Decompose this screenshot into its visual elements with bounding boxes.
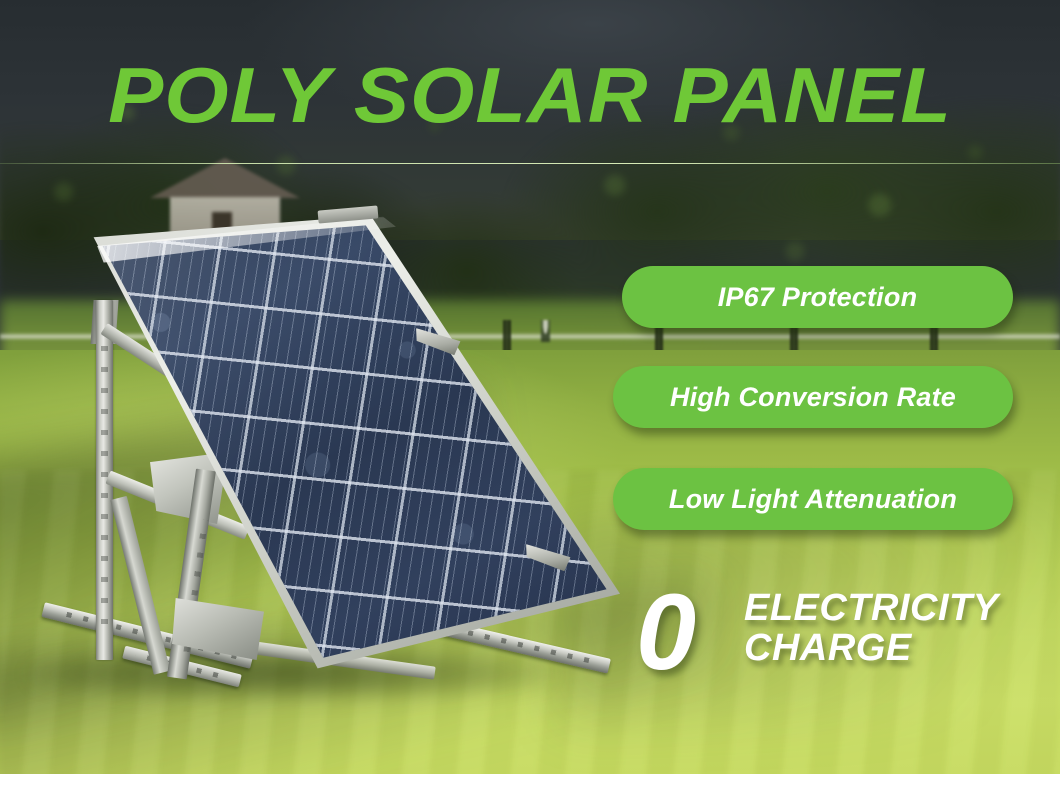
electricity-line: ELECTRICITY bbox=[744, 588, 999, 628]
electricity-charge-text: ELECTRICITY CHARGE bbox=[744, 588, 999, 669]
feature-pill-ip67-protection[interactable]: IP67 Protection bbox=[622, 266, 1013, 328]
poly-solar-panel-banner: POLY SOLAR PANEL IP67 Protection High Co… bbox=[0, 0, 1060, 790]
feature-pill-high-conversion-rate[interactable]: High Conversion Rate bbox=[613, 366, 1013, 428]
charge-line: CHARGE bbox=[744, 628, 999, 668]
zero-number: 0 bbox=[636, 578, 696, 686]
feature-pill-low-light-attenuation[interactable]: Low Light Attenuation bbox=[613, 468, 1013, 530]
bottom-white-strip bbox=[0, 774, 1060, 790]
zero-electricity-charge-badge: 0 ELECTRICITY CHARGE bbox=[636, 582, 1036, 692]
